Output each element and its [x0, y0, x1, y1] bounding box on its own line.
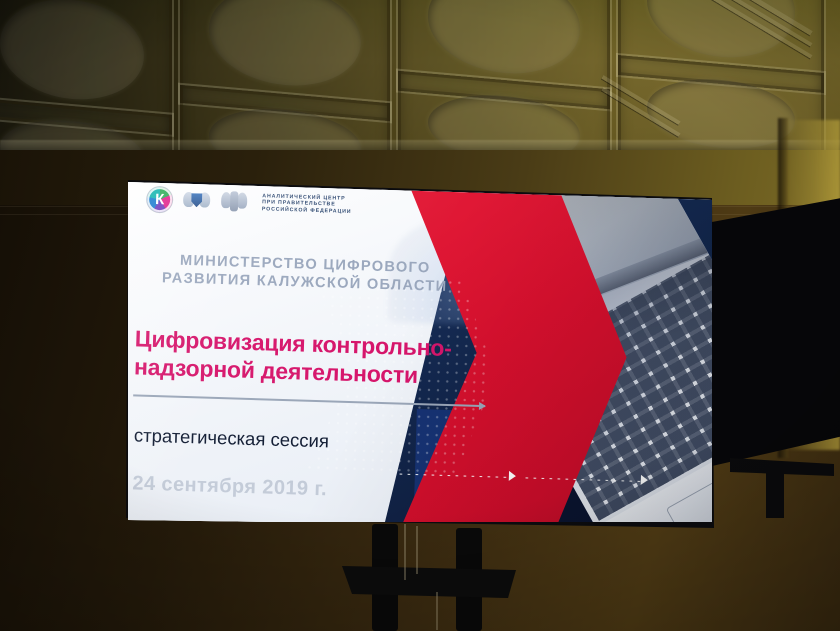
wall-mounted-display[interactable]: АНАЛИТИЧЕСКИЙ ЦЕНТР ПРИ ПРАВИТЕЛЬСТВЕ РО…	[120, 168, 718, 536]
coffered-ceiling	[0, 0, 840, 152]
secondary-monitor-neck	[766, 472, 784, 518]
kaluga-k-logo	[147, 187, 173, 213]
cable-2	[416, 526, 434, 574]
presentation-slide: АНАЛИТИЧЕСКИЙ ЦЕНТР ПРИ ПРАВИТЕЛЬСТВЕ РО…	[128, 182, 712, 522]
room-scene: АНАЛИТИЧЕСКИЙ ЦЕНТР ПРИ ПРАВИТЕЛЬСТВЕ РО…	[0, 0, 840, 631]
russian-eagle-emblem-logo	[221, 189, 248, 215]
shield-emblem-logo	[183, 188, 211, 214]
analytical-center-label: АНАЛИТИЧЕСКИЙ ЦЕНТР ПРИ ПРАВИТЕЛЬСТВЕ РО…	[262, 193, 352, 216]
tv-screen[interactable]: АНАЛИТИЧЕСКИЙ ЦЕНТР ПРИ ПРАВИТЕЛЬСТВЕ РО…	[128, 182, 712, 522]
slide-title: Цифровизация контрольно-надзорной деятел…	[134, 324, 488, 391]
secondary-monitor-screen[interactable]	[712, 196, 840, 466]
cable-3	[436, 592, 452, 630]
secondary-monitor[interactable]	[712, 196, 840, 466]
